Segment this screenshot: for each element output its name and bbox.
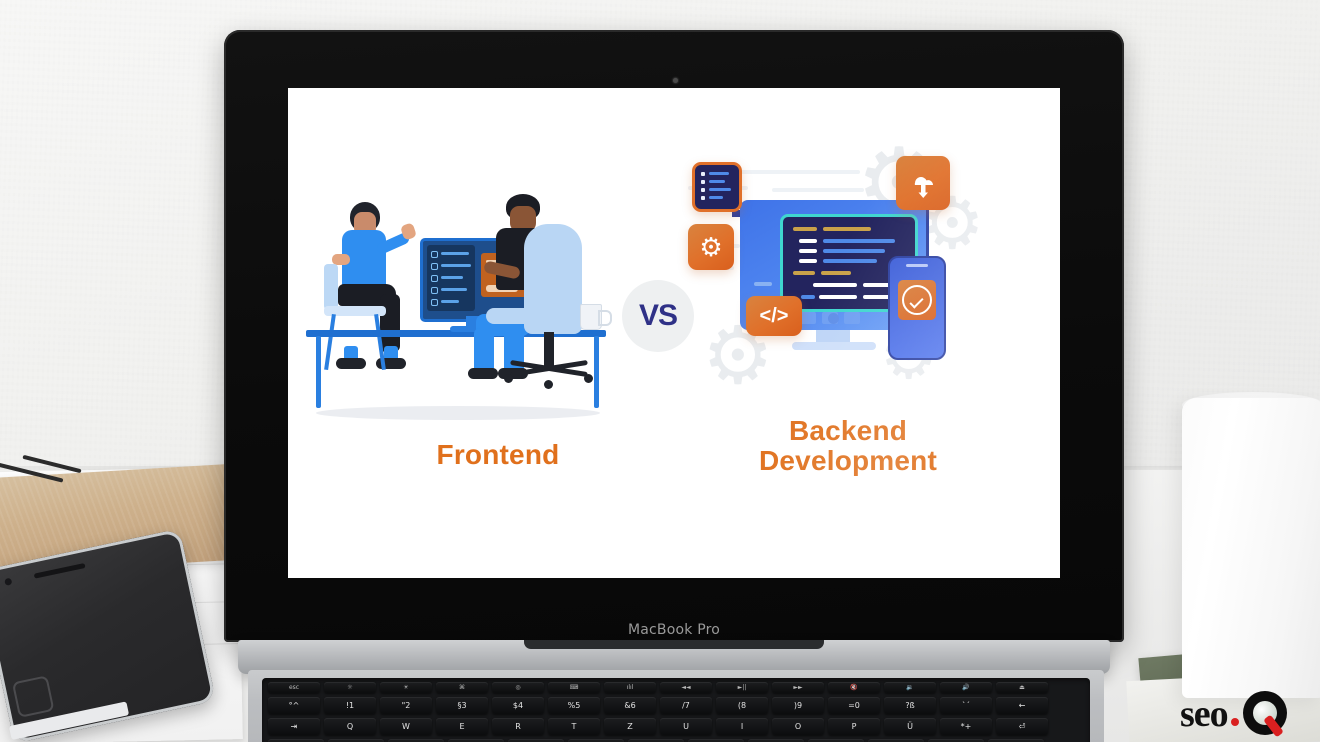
key-7[interactable]: /7 <box>660 697 712 714</box>
key-p[interactable]: P <box>828 718 880 735</box>
phone-speaker <box>906 264 928 267</box>
key-z[interactable]: Z <box>604 718 656 735</box>
key-[interactable]: `´ <box>940 697 992 714</box>
key-i[interactable]: I <box>716 718 768 735</box>
key-[interactable]: *+ <box>940 718 992 735</box>
key-[interactable]: °^ <box>268 697 320 714</box>
key-[interactable]: ◄◄ <box>660 682 712 693</box>
coffee-mug-handle <box>598 310 612 326</box>
macbook-pro-laptop: MacBook Pro <box>224 30 1124 742</box>
slide-content: VS ⚙ ⚙ ⚙ ⚙ <box>288 88 1060 578</box>
phone-speaker <box>34 563 86 579</box>
magnifying-glass-icon <box>1243 691 1289 737</box>
backend-stack-illustration: ⚙ ⚙ ⚙ ⚙ <box>688 148 1008 410</box>
monitor-power-dot <box>828 313 839 324</box>
key-[interactable]: 🔇 <box>828 682 880 693</box>
bezel-label: MacBook Pro <box>224 622 1124 638</box>
camera-dot-icon <box>673 78 678 83</box>
key-ß[interactable]: ?ß <box>884 697 936 714</box>
key-8[interactable]: (8 <box>716 697 768 714</box>
screenshot-scene: MacBook Pro <box>0 0 1320 742</box>
key-9[interactable]: )9 <box>772 697 824 714</box>
key-5[interactable]: %5 <box>548 697 600 714</box>
key-esc[interactable]: esc <box>268 682 320 693</box>
white-cylinder-candle <box>1182 398 1320 698</box>
key-[interactable]: ⌨ <box>548 682 600 693</box>
laptop-hinge-notch <box>524 640 824 649</box>
key-w[interactable]: W <box>380 718 432 735</box>
key-1[interactable]: !1 <box>324 697 376 714</box>
key-6[interactable]: &6 <box>604 697 656 714</box>
phone-home-button <box>12 675 55 718</box>
key-[interactable]: ⌘ <box>436 682 488 693</box>
key-[interactable]: ← <box>996 697 1048 714</box>
gear-icon: ⚙ <box>688 224 734 270</box>
key-ü[interactable]: Ü <box>884 718 936 735</box>
backend-label: Backend Development <box>688 416 1008 476</box>
key-[interactable]: ☀ <box>380 682 432 693</box>
key-o[interactable]: O <box>772 718 824 735</box>
laptop-lid: MacBook Pro <box>224 30 1124 642</box>
keyboard-row-2[interactable]: °^!1"2§3$4%5&6/7(8)9=0?ß`´← <box>268 697 1048 714</box>
backend-monitor-foot <box>792 342 876 350</box>
backend-label-line2: Development <box>759 445 937 476</box>
code-icon: </> <box>746 296 802 336</box>
key-[interactable]: ►|| <box>716 682 768 693</box>
watermark-dot <box>1231 718 1239 726</box>
keyboard-row-1[interactable]: esc☼☀⌘◎⌨ılıl◄◄►||►►🔇🔉🔊⏏ <box>268 682 1048 693</box>
key-e[interactable]: E <box>436 718 488 735</box>
key-3[interactable]: §3 <box>436 697 488 714</box>
watermark-text: seo <box>1180 692 1228 736</box>
key-u[interactable]: U <box>660 718 712 735</box>
key-[interactable]: ►► <box>772 682 824 693</box>
laptop-screen[interactable]: VS ⚙ ⚙ ⚙ ⚙ <box>288 88 1060 578</box>
key-r[interactable]: R <box>492 718 544 735</box>
key-t[interactable]: T <box>548 718 600 735</box>
key-4[interactable]: $4 <box>492 697 544 714</box>
key-2[interactable]: "2 <box>380 697 432 714</box>
two-developers-at-desk-illustration <box>298 168 618 416</box>
keyboard-row-3[interactable]: ⇥QWERTZUIOPÜ*+⏎ <box>268 718 1048 735</box>
key-[interactable]: 🔊 <box>940 682 992 693</box>
key-[interactable]: ☼ <box>324 682 376 693</box>
backend-label-line1: Backend <box>789 415 907 446</box>
keyboard[interactable]: esc☼☀⌘◎⌨ılıl◄◄►||►►🔇🔉🔊⏏°^!1"2§3$4%5&6/7(… <box>262 678 1090 742</box>
key-[interactable]: ⇥ <box>268 718 320 735</box>
key-ll[interactable]: ılıl <box>604 682 656 693</box>
seo-watermark: seo <box>1180 686 1320 742</box>
monitor-sidebar <box>427 245 475 311</box>
vs-badge: VS <box>622 280 694 352</box>
key-[interactable]: 🔉 <box>884 682 936 693</box>
check-circle-icon <box>898 280 936 320</box>
backend-phone <box>888 256 946 360</box>
key-[interactable]: ◎ <box>492 682 544 693</box>
key-[interactable]: ⏎ <box>996 718 1048 735</box>
list-icon <box>692 162 742 212</box>
frontend-label: Frontend <box>348 440 648 470</box>
phone-camera-icon <box>4 578 12 586</box>
key-0[interactable]: =0 <box>828 697 880 714</box>
key-q[interactable]: Q <box>324 718 376 735</box>
key-[interactable]: ⏏ <box>996 682 1048 693</box>
cloud-download-icon <box>896 156 950 210</box>
